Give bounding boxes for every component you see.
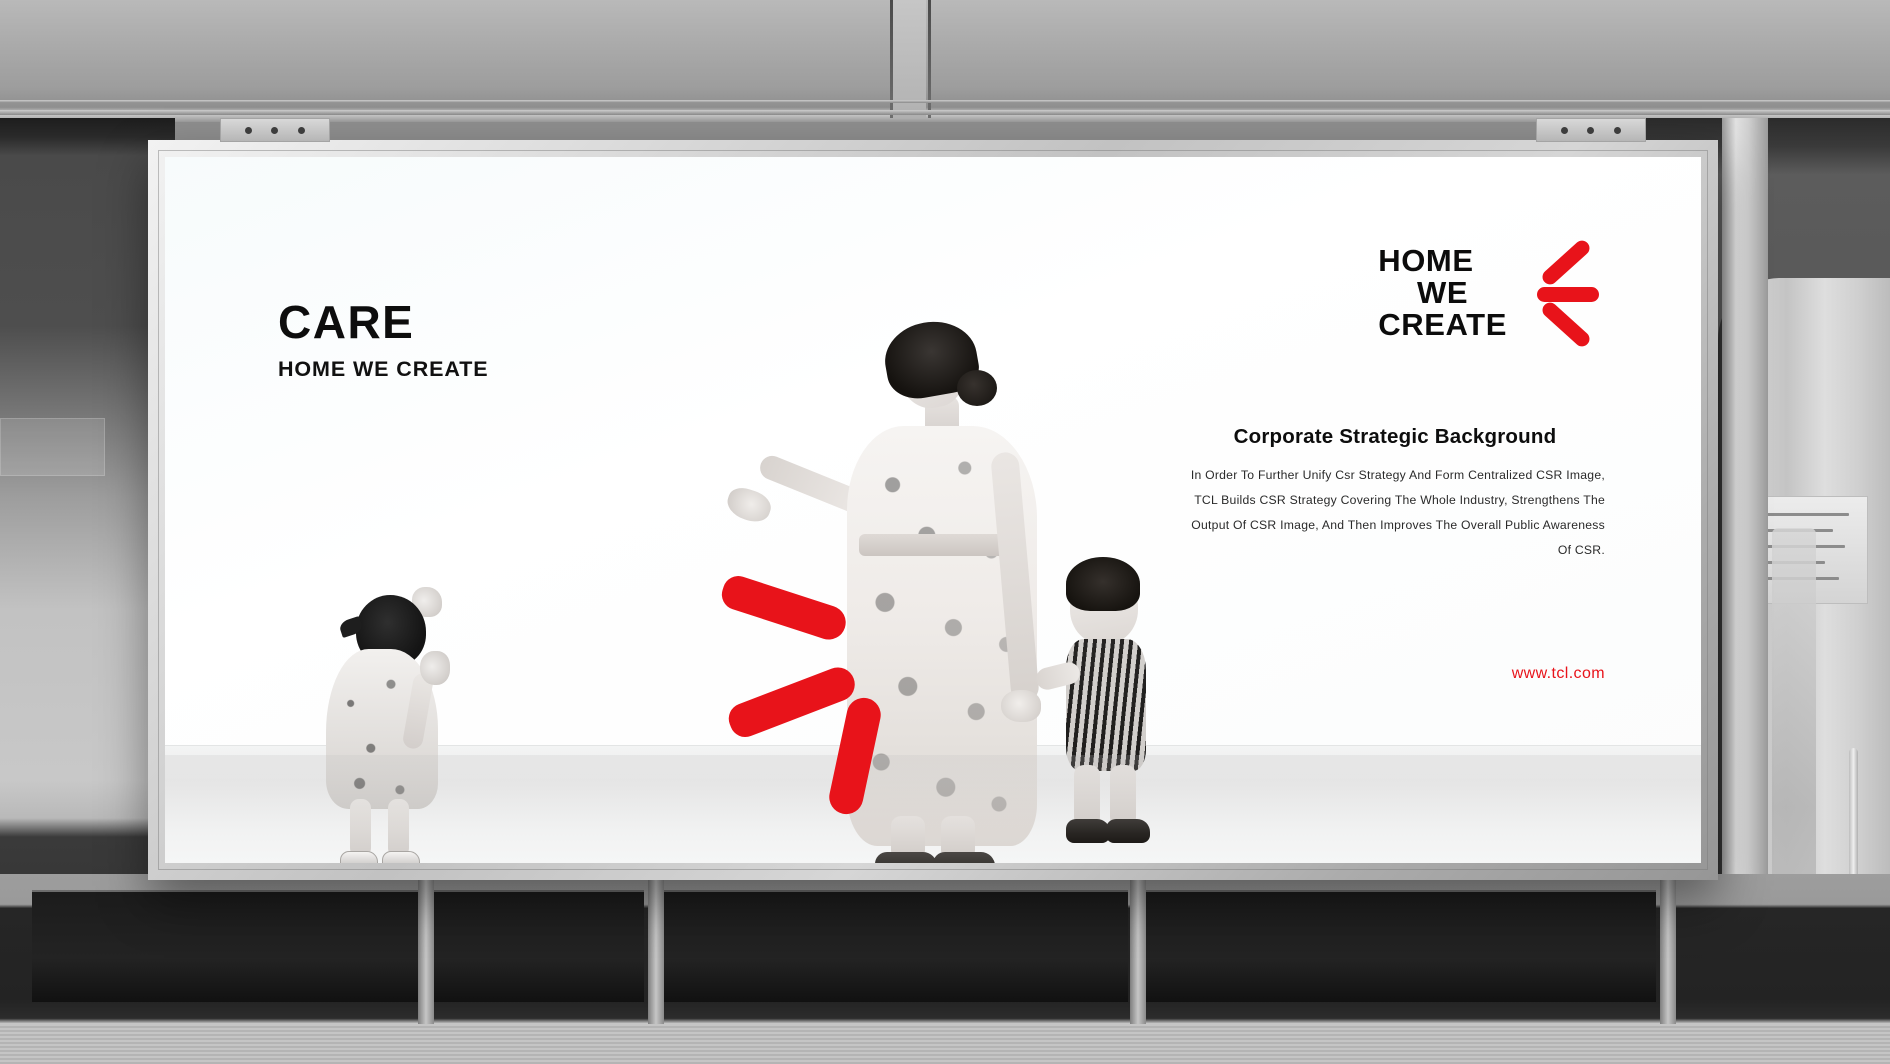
window-mullion: [1660, 878, 1676, 1028]
ceiling-rail-a: [0, 100, 1890, 103]
train-handrail: [1849, 748, 1858, 888]
logo-line-1: HOME: [1378, 245, 1507, 277]
train-sign-line: [1761, 513, 1849, 516]
logo-wordmark: HOME WE CREATE: [1378, 245, 1507, 341]
boy-leg: [1074, 765, 1100, 827]
window-mullion: [1130, 878, 1146, 1028]
ceiling-rail-b: [0, 110, 1890, 115]
glass-panel: [1144, 890, 1656, 1002]
floor-strip: [0, 1024, 1890, 1064]
logo-line-2: WE: [1378, 277, 1507, 309]
toddler-girl: [320, 587, 452, 863]
boy-sandal: [1066, 819, 1110, 843]
billboard[interactable]: CARE HOME WE CREATE HOME WE CREATE: [148, 140, 1718, 880]
girl-sandal: [340, 851, 378, 863]
copy-paragraph: In Order To Further Unify Csr Strategy A…: [1185, 463, 1605, 563]
woman-shoe: [933, 852, 995, 863]
mark-stroke-upper: [1539, 237, 1592, 287]
logo-line-3: CREATE: [1378, 309, 1507, 341]
copy-block: Corporate Strategic Background In Order …: [1185, 425, 1605, 563]
woman-shoe: [875, 852, 937, 863]
girl-hand-on-wall: [420, 651, 450, 685]
website-url[interactable]: www.tcl.com: [1512, 665, 1605, 683]
poster-artwork: CARE HOME WE CREATE HOME WE CREATE: [165, 157, 1701, 863]
woman-open-hand: [723, 484, 774, 526]
boy-striped-outfit: [1066, 639, 1146, 771]
boy-leg: [1110, 765, 1136, 827]
woman-hand-on-child: [1001, 690, 1041, 722]
lower-glazing-band: [0, 874, 1890, 1064]
boy-sandal: [1106, 819, 1150, 843]
boy-hair: [1066, 557, 1140, 611]
girl-leg: [388, 799, 409, 857]
girl-sandal: [382, 851, 420, 863]
burst-graphic: [720, 567, 1000, 797]
glass-panel: [32, 890, 644, 1002]
window-mullion: [648, 878, 664, 1028]
ceiling: [0, 0, 1890, 122]
burst-stroke-upper: [718, 572, 850, 644]
woman-hair-bun: [957, 370, 997, 406]
burst-stroke-middle: [724, 662, 859, 741]
copy-heading: Corporate Strategic Background: [1185, 425, 1605, 449]
station-scene: CARE HOME WE CREATE HOME WE CREATE: [0, 0, 1890, 1064]
girl-leg: [350, 799, 371, 857]
brand-logo[interactable]: HOME WE CREATE: [1378, 245, 1603, 341]
mounting-bracket-right: [1536, 118, 1646, 142]
toddler-boy: [1040, 557, 1170, 863]
mounting-bracket-left: [220, 118, 330, 142]
headline-block: CARE HOME WE CREATE: [278, 299, 488, 382]
wall-panel-left: [0, 418, 105, 476]
headline-subline: HOME WE CREATE: [278, 357, 488, 382]
page-title: CARE: [278, 299, 488, 345]
tcl-burst-mark-icon: [1525, 247, 1603, 339]
window-mullion: [418, 878, 434, 1028]
glass-panel: [660, 890, 1128, 1002]
mark-stroke-middle: [1537, 287, 1599, 302]
